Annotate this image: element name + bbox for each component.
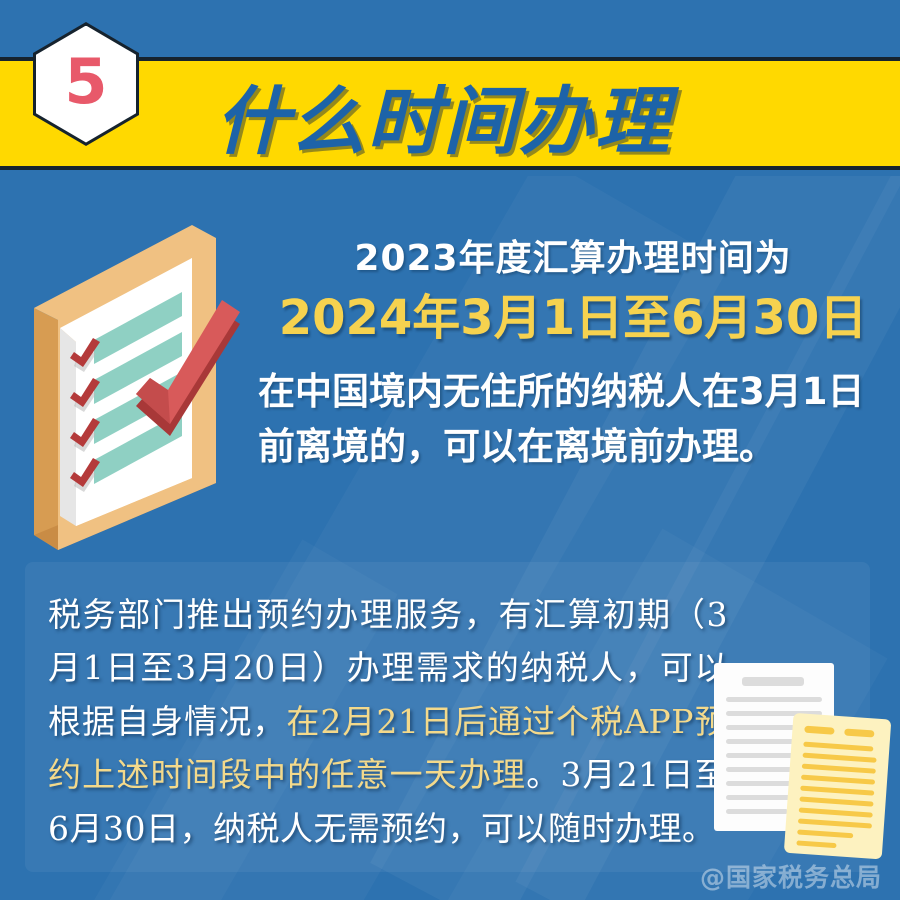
note-panel-text: 税务部门推出预约办理服务，有汇算初期（3月1日至3月20日）办理需求的纳税人，可… <box>48 588 728 855</box>
header-band-underline <box>0 170 900 176</box>
header-top-strip <box>0 0 900 57</box>
watermark-label: @国家税务总局 <box>700 858 882 894</box>
main-heading: 2023年度汇算办理时间为 <box>258 236 888 281</box>
clipboard-checklist-icon <box>20 220 270 550</box>
section-number-badge-inner: 5 <box>36 26 136 143</box>
main-body-paragraph: 在中国境内无住所的纳税人在3月1日 前离境的，可以在离境前办理。 <box>258 365 888 475</box>
infographic-poster: 5 什么时间办理 <box>0 0 900 900</box>
main-date-range: 2024年3月1日至6月30日 <box>258 287 888 349</box>
main-body-line-1: 在中国境内无住所的纳税人在3月1日 <box>258 365 888 420</box>
main-text-block: 2023年度汇算办理时间为 2024年3月1日至6月30日 在中国境内无住所的纳… <box>258 236 888 475</box>
main-body-line-2: 前离境的，可以在离境前办理。 <box>258 420 888 475</box>
section-number-label: 5 <box>64 51 107 117</box>
documents-pen-icon <box>700 655 900 870</box>
page-title: 什么时间办理 <box>215 60 835 170</box>
